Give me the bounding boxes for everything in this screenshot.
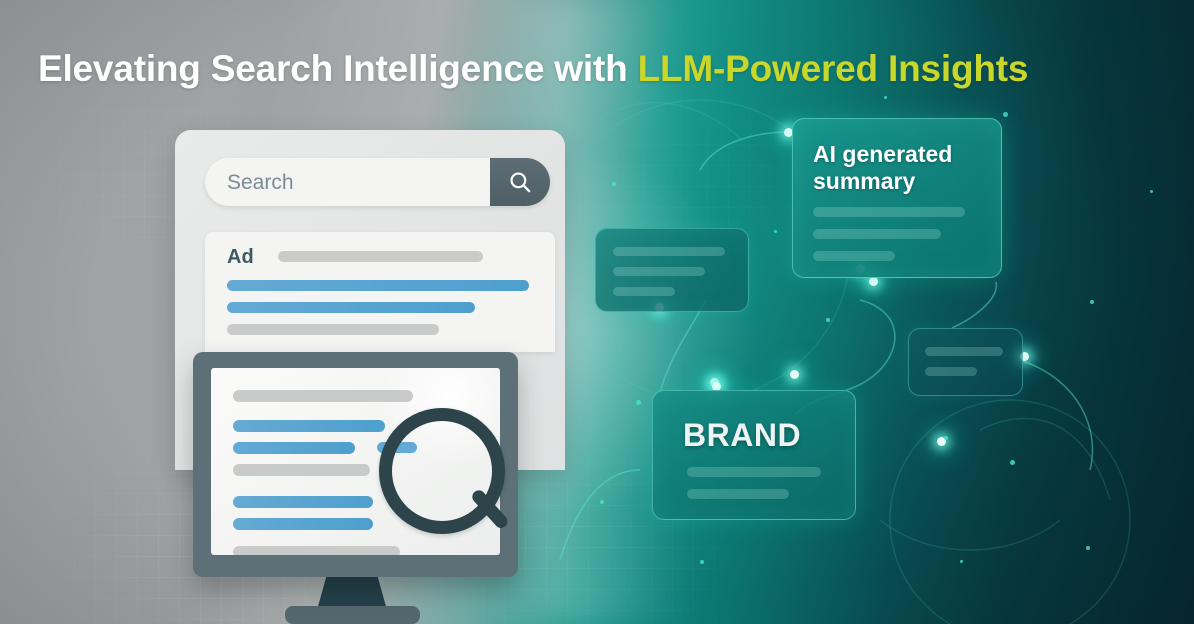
search-bar[interactable]: Search [205,158,550,206]
particle [884,96,887,99]
particle [1090,300,1094,304]
search-input-placeholder[interactable]: Search [227,171,294,195]
search-icon [507,169,533,195]
ai-summary-title: AI generated summary [813,141,993,195]
brand-bar [687,467,821,477]
hero-banner: Elevating Search Intelligence with LLM-P… [0,0,1194,624]
brand-card[interactable]: BRAND [652,390,856,520]
ai-summary-card[interactable]: AI generated summary [792,118,1002,278]
snippet-bar [925,347,1003,356]
result-bar [233,464,370,476]
ad-link-bar [227,280,529,291]
particle [612,182,616,186]
result-bar [233,442,355,454]
page-title-text: Elevating Search Intelligence with [38,48,638,89]
particle [636,400,641,405]
particle [826,318,830,322]
ad-label: Ad [227,246,254,269]
particle [1150,190,1153,193]
monitor-stand [317,575,387,610]
particle [1086,546,1090,550]
page-title: Elevating Search Intelligence with LLM-P… [38,48,1028,90]
particle [600,500,604,504]
snippet-bar [613,287,675,296]
result-bar [233,518,373,530]
snippet-bar [613,247,725,256]
search-button[interactable] [490,158,550,206]
snippet-bar [613,267,705,276]
ad-result-card[interactable]: Ad [205,232,555,352]
monitor-base [285,606,420,624]
ai-snippet-card-small[interactable] [908,328,1023,396]
ad-title-placeholder [278,251,483,262]
page-title-highlight: LLM-Powered Insights [638,48,1029,89]
ad-link-bar [227,302,475,313]
result-bar [233,496,373,508]
particle [700,560,704,564]
snippet-bar [925,367,977,376]
particle [774,230,777,233]
summary-bar [813,207,965,217]
result-bar [233,546,400,555]
network-node [790,370,799,379]
result-bar [233,390,413,402]
particle [960,560,963,563]
ai-snippet-card-middle[interactable] [595,228,749,312]
result-bar [233,420,385,432]
brand-title: BRAND [683,417,801,454]
network-node [869,277,878,286]
particle [1010,460,1015,465]
summary-bar [813,229,941,239]
brand-bar [687,489,789,499]
ad-desc-bar [227,324,439,335]
particle [944,436,948,440]
particle [1003,112,1008,117]
summary-bar [813,251,895,261]
